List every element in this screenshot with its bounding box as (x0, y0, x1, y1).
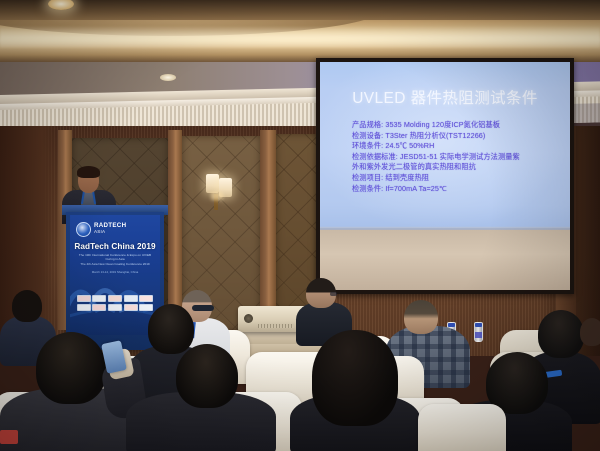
sponsor-logo-grid (75, 295, 155, 311)
slide-line: 外和紫外发光二极管的真实热阻和阻抗 (352, 162, 552, 173)
slide-line: 产品规格: 3535 Molding 120度ICP氮化铝基板 (352, 120, 552, 131)
podium-banner: RADTECH ASIA RadTech China 2019 The 19th… (70, 215, 160, 335)
conference-photo: UVLED 器件热阻测试条件 产品规格: 3535 Molding 120度IC… (0, 0, 600, 451)
attendee-head-long-hair (312, 330, 398, 426)
slide-body-text: 产品规格: 3535 Molding 120度ICP氮化铝基板 检测设备: T3… (352, 120, 552, 194)
sconce-shade-icon (206, 174, 219, 193)
sunglasses-icon (192, 305, 214, 311)
attendee-head (538, 310, 584, 358)
radtech-logo-text: RADTECH ASIA (94, 223, 126, 236)
attendee-head (404, 300, 438, 334)
attendee-head (12, 290, 42, 322)
radtech-logo: RADTECH ASIA (76, 221, 154, 237)
banner-subtitle-line2: The 4th Asia New Clean Coating Conferenc… (75, 262, 155, 266)
sponsor-logo (139, 304, 153, 311)
projection-screen[interactable]: UVLED 器件热阻测试条件 产品规格: 3535 Molding 120度IC… (320, 62, 570, 290)
attendee-head (176, 344, 238, 408)
sponsor-logo (139, 295, 153, 302)
sponsor-row (75, 295, 155, 302)
attendee-head (36, 332, 106, 404)
banner-subtitle-line1: The 19th International Conference & Expo… (75, 253, 155, 262)
wall-pilaster (168, 130, 182, 330)
glasses-icon (330, 292, 337, 296)
slide-line: 检测设备: T3Ster 热阻分析仪(TST12266) (352, 131, 552, 142)
radtech-logo-mark-icon (76, 222, 91, 237)
recessed-downlight-icon (160, 74, 176, 81)
badge-icon (0, 430, 18, 444)
sponsor-logo (77, 295, 91, 302)
sponsor-logo (77, 304, 91, 311)
sponsor-logo (108, 304, 122, 311)
sconce-glow (211, 192, 223, 200)
sponsor-logo (108, 295, 122, 302)
sponsor-logo (124, 295, 138, 302)
sponsor-logo (124, 304, 138, 311)
banner-date: March 13-14, 2019 Shanghai, China (75, 270, 155, 274)
sponsor-logo (92, 295, 106, 302)
slide-line: 环境条件: 24.5℃ 50%RH (352, 141, 552, 152)
projector-vent (258, 324, 294, 328)
bottle-label (475, 332, 482, 338)
projector-lens-icon (244, 314, 253, 323)
ceiling-soffit (0, 0, 600, 20)
water-bottle (474, 322, 483, 342)
screen-lower-blank-area (320, 230, 570, 290)
slide-line: 检测条件: If=700mA Ta=25℃ (352, 184, 552, 195)
sponsor-logo (92, 304, 106, 311)
sponsor-row (75, 304, 155, 311)
logo-sub: ASIA (94, 229, 126, 236)
chair[interactable] (418, 404, 506, 451)
cove-light-glow (0, 26, 600, 48)
bottle-cap (448, 323, 455, 327)
speaker-hair (77, 166, 100, 178)
banner-title: RadTech China 2019 (70, 242, 160, 251)
bottle-cap (475, 323, 482, 327)
attendee-head (148, 304, 194, 354)
wall-pilaster (260, 130, 276, 335)
attendee-head (580, 318, 600, 346)
slide-title: UVLED 器件热阻测试条件 (320, 86, 570, 108)
banner-subtitle: The 19th International Conference & Expo… (75, 253, 155, 266)
slide-line: 检测项目: 结到壳度热阻 (352, 173, 552, 184)
slide-line: 检测依据标准: JESD51-51 实际电学测试方法测量紫 (352, 152, 552, 163)
